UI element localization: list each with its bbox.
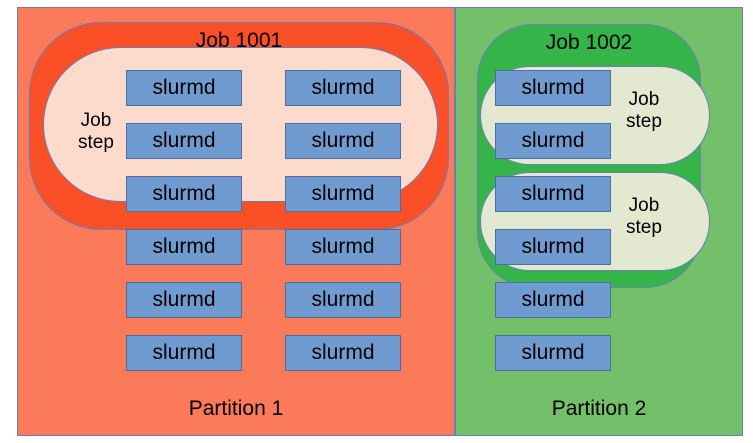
- slurmd-node: slurmd: [285, 335, 401, 371]
- slurmd-node: slurmd: [126, 282, 242, 318]
- slurmd-node: slurmd: [126, 335, 242, 371]
- slurmd-node: slurmd: [495, 282, 611, 318]
- job-1002-label: Job 1002: [478, 31, 700, 55]
- job-1002-step-2-label: Job step: [618, 195, 670, 239]
- slurmd-node: slurmd: [285, 70, 401, 106]
- partition-2-label: Partition 2: [456, 397, 742, 421]
- job-1001-step-1-label: Job step: [70, 110, 122, 154]
- diagram-canvas: Job 1001 Partition 1 Job step Job 1002 P…: [0, 0, 753, 443]
- slurmd-node: slurmd: [285, 229, 401, 265]
- slurmd-node: slurmd: [495, 70, 611, 106]
- slurmd-node: slurmd: [285, 176, 401, 212]
- slurmd-node: slurmd: [126, 123, 242, 159]
- job-1002-step-1-label: Job step: [618, 89, 670, 133]
- slurmd-node: slurmd: [495, 229, 611, 265]
- slurmd-node: slurmd: [126, 229, 242, 265]
- slurmd-node: slurmd: [126, 70, 242, 106]
- slurmd-node: slurmd: [495, 335, 611, 371]
- slurmd-node: slurmd: [285, 123, 401, 159]
- partition-1-label: Partition 1: [18, 397, 454, 421]
- slurmd-node: slurmd: [126, 176, 242, 212]
- slurmd-node: slurmd: [495, 123, 611, 159]
- slurmd-node: slurmd: [285, 282, 401, 318]
- slurmd-node: slurmd: [495, 176, 611, 212]
